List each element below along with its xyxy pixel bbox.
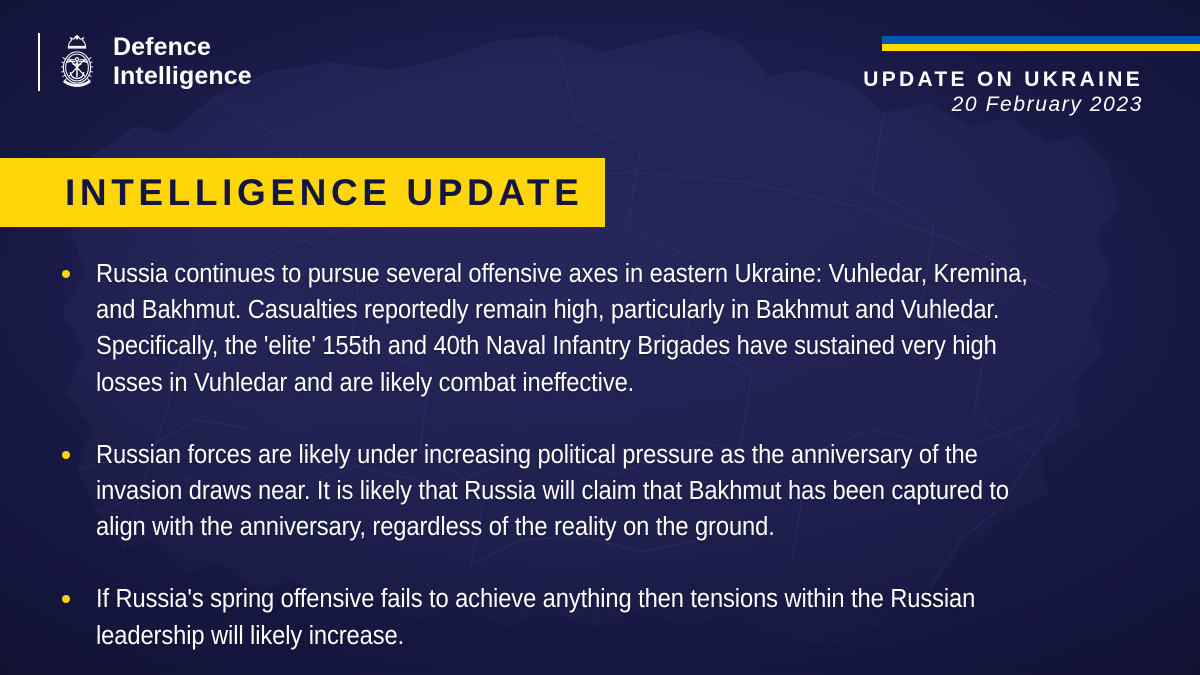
bullet-list: Russia continues to pursue several offen… — [62, 256, 1122, 654]
bullet-text: Russia continues to pursue several offen… — [96, 256, 1050, 401]
list-item: Russia continues to pursue several offen… — [62, 256, 1122, 401]
brand-line-2: Intelligence — [113, 62, 252, 91]
banner-label: INTELLIGENCE UPDATE — [65, 174, 583, 211]
intelligence-update-banner: INTELLIGENCE UPDATE — [0, 158, 605, 227]
ukraine-flag-bar-icon — [882, 36, 1200, 51]
bullet-text: If Russia's spring offensive fails to ac… — [96, 581, 1050, 653]
flag-stripe-yellow — [882, 44, 1200, 52]
bullet-dot-icon — [62, 270, 70, 278]
update-caption: UPDATE ON UKRAINE 20 February 2023 — [863, 68, 1143, 117]
defence-intelligence-logo: Defence Intelligence — [38, 31, 252, 93]
brand-line-1: Defence — [113, 33, 252, 62]
flag-stripe-blue — [882, 36, 1200, 44]
bullet-dot-icon — [62, 451, 70, 459]
brand-wordmark: Defence Intelligence — [113, 33, 252, 91]
list-item: Russian forces are likely under increasi… — [62, 437, 1122, 546]
vertical-divider-icon — [38, 33, 40, 91]
mod-defence-intelligence-crest-icon — [54, 32, 100, 92]
update-title: UPDATE ON UKRAINE — [863, 68, 1143, 92]
list-item: If Russia's spring offensive fails to ac… — [62, 581, 1122, 653]
update-date: 20 February 2023 — [863, 93, 1143, 118]
bullet-dot-icon — [62, 595, 70, 603]
bullet-text: Russian forces are likely under increasi… — [96, 437, 1050, 546]
intelligence-update-poster: Defence Intelligence UPDATE ON UKRAINE 2… — [0, 0, 1200, 675]
